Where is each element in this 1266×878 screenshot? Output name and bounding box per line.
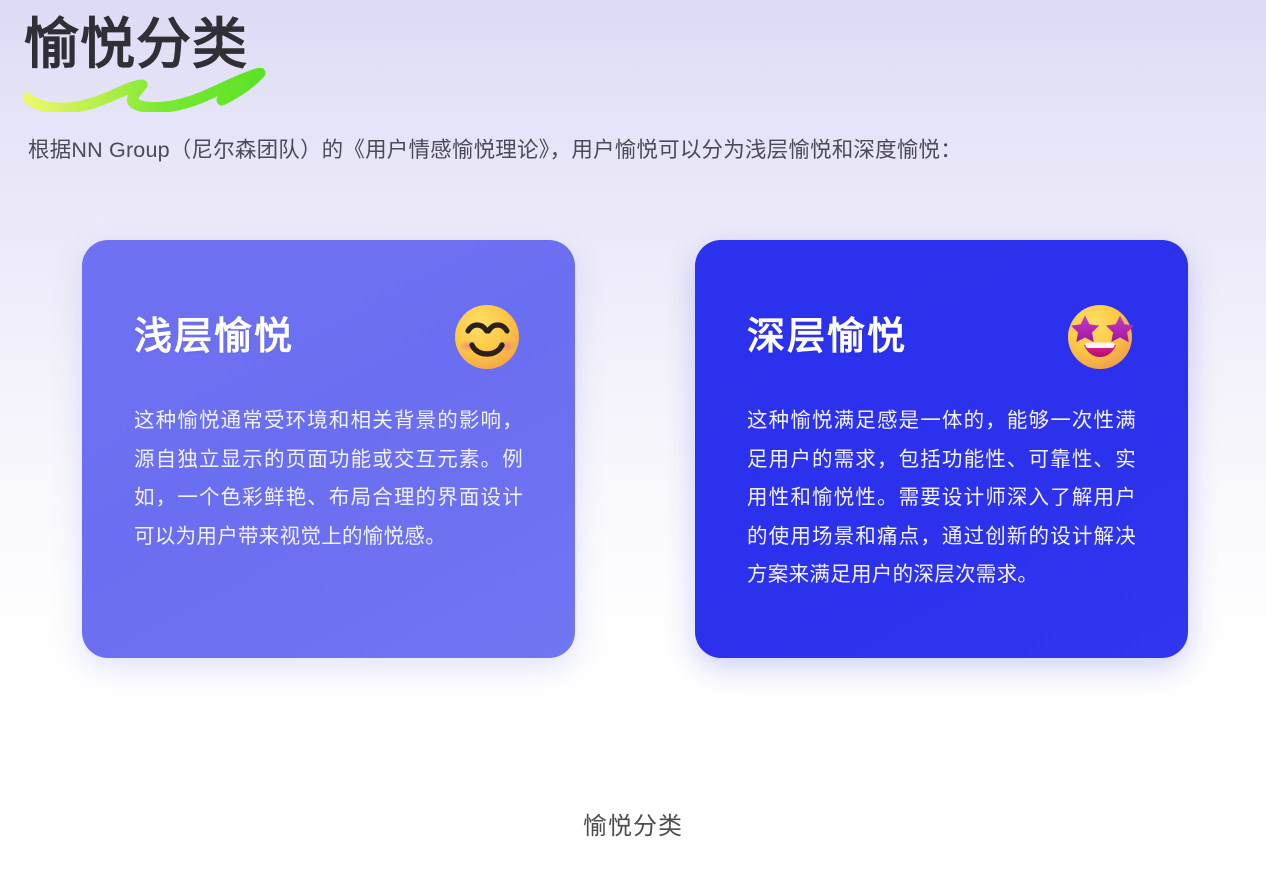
card-shallow-header: 浅层愉悦 (134, 300, 523, 374)
page-title: 愉悦分类 (24, 16, 248, 74)
page-header: 愉悦分类 (24, 16, 444, 112)
page-background: 愉悦分类 根据NN Group（尼尔森团队）的《用户情感愉悦理论》，用户愉悦可以… (0, 0, 1266, 878)
card-shallow-delight[interactable]: 浅层愉悦 (82, 240, 575, 658)
star-struck-face-icon (1064, 301, 1136, 373)
title-wrap: 愉悦分类 (24, 16, 248, 74)
card-shallow-title: 浅层愉悦 (134, 318, 294, 356)
figure-caption: 愉悦分类 (0, 806, 1266, 841)
card-shallow-description: 这种愉悦通常受环境和相关背景的影响，源自独立显示的页面功能或交互元素。例如，一个… (134, 402, 523, 556)
smiling-face-with-smiling-eyes-icon (451, 301, 523, 373)
card-deep-header: 深层愉悦 (747, 300, 1136, 374)
card-deep-delight[interactable]: 深层愉悦 (695, 240, 1188, 658)
intro-paragraph: 根据NN Group（尼尔森团队）的《用户情感愉悦理论》，用户愉悦可以分为浅层愉… (28, 132, 1228, 168)
card-deep-title: 深层愉悦 (747, 318, 907, 356)
card-deep-description: 这种愉悦满足感是一体的，能够一次性满足用户的需求，包括功能性、可靠性、实用性和愉… (747, 402, 1136, 595)
category-cards: 浅层愉悦 (0, 240, 1266, 660)
